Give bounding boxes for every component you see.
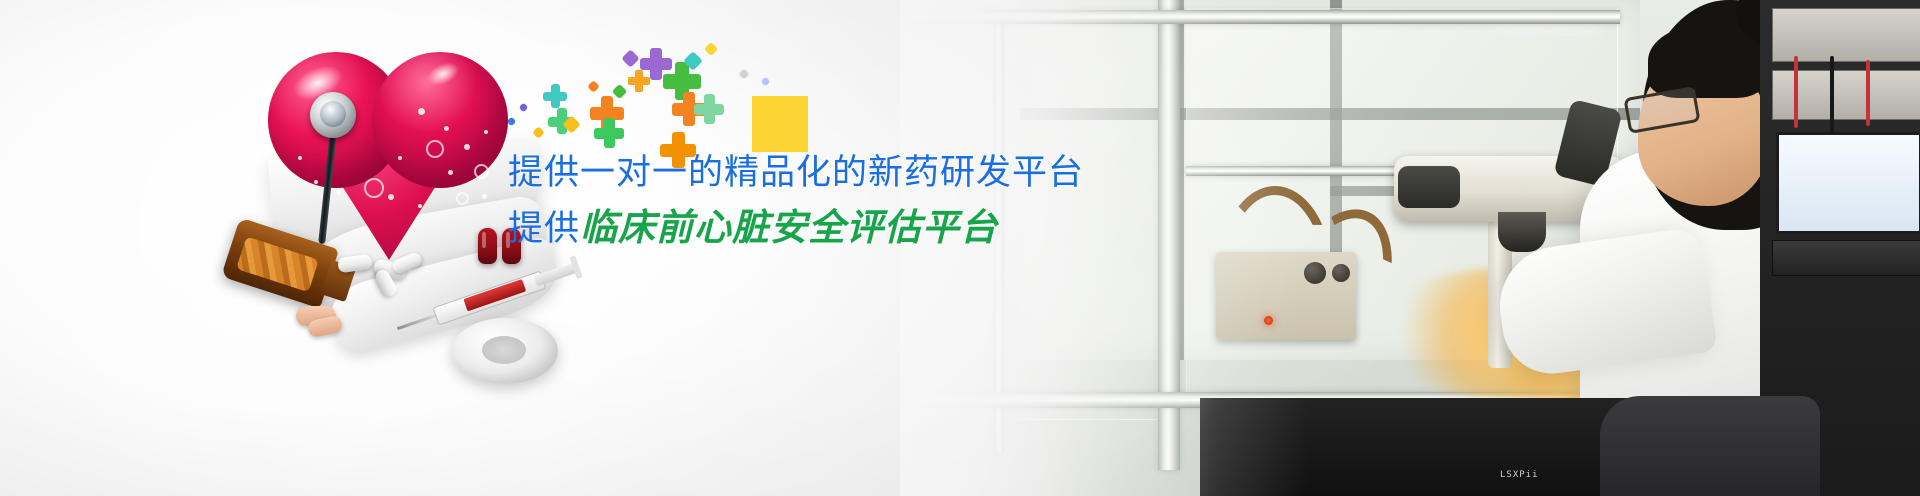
headline-block: 提供一对一的精品化的新药研发平台 提供临床前心脏安全评估平台 [508,150,1128,252]
heart-bubble [474,164,489,179]
heart-bubble [298,156,302,160]
medical-cross-icon [543,84,567,108]
headline-line-2-accent: 临床前心脏安全评估平台 [580,207,998,248]
heart-bubble [336,190,341,195]
heart-bubble [444,126,449,131]
heart-bubble [364,178,384,198]
bottle-capsules [236,236,319,292]
medical-cross-icon [594,118,624,148]
heart-bubble [464,144,470,150]
headline-line-1: 提供一对一的精品化的新药研发平台 [508,150,1128,196]
medical-cross-icon [628,70,650,92]
headline-line-2-lead: 提供 [508,209,580,248]
hero-banner: LSXPii [0,0,1920,496]
syringe-needle [397,314,438,331]
gauze-roll [452,318,558,384]
stethoscope-icon [310,92,356,138]
heart-bubble [314,180,318,184]
heart-bubble [398,156,402,160]
heart-bubble [426,140,444,158]
heart-illustration [268,44,518,244]
heart-bubble [418,204,422,208]
headline-line-2: 提供临床前心脏安全评估平台 [508,204,1128,252]
medical-cross-icon [694,94,724,124]
heart-bubble [448,170,453,175]
heart-bubble [418,108,425,115]
heart-bubble [482,194,487,199]
heart-bubble [456,192,469,205]
medical-cross-icon [752,96,808,152]
heart-bubble [388,194,394,200]
heart-bubble [484,130,488,134]
red-capsule [478,228,497,264]
